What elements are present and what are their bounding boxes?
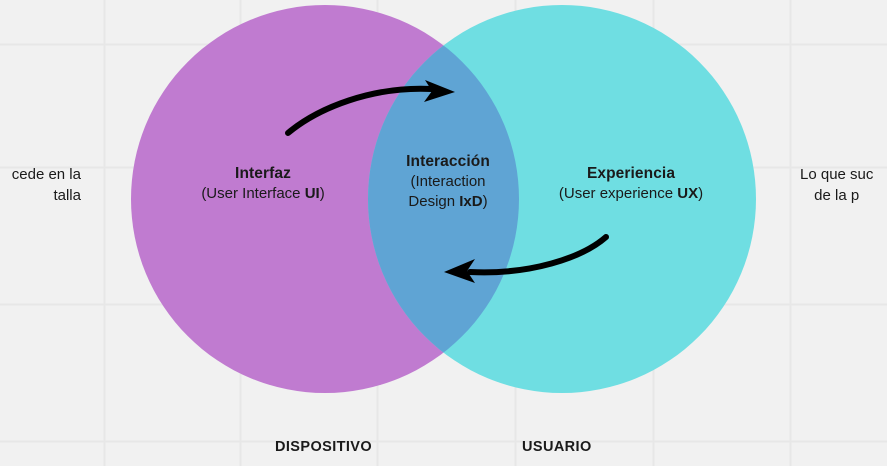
label-interfaz: Interfaz (User Interface UI) bbox=[163, 164, 363, 204]
venn-diagram-canvas: cede en la talla Interfaz (User Interfac… bbox=[0, 0, 887, 466]
label-interaccion-sub-prefix: Design bbox=[408, 193, 459, 210]
label-interaccion-sub-suffix: ) bbox=[483, 193, 488, 210]
label-interaccion-sub-line2: Design IxD) bbox=[377, 192, 519, 212]
venn-circles bbox=[0, 0, 887, 466]
label-experiencia-sub-acronym: UX bbox=[677, 185, 698, 202]
side-note-left-line1: cede en la bbox=[12, 164, 81, 185]
side-note-left: cede en la talla bbox=[12, 164, 81, 207]
axis-label-usuario: USUARIO bbox=[522, 439, 592, 455]
label-interaccion-title: Interacción bbox=[377, 152, 519, 172]
side-note-right: Lo que suc de la p bbox=[800, 164, 873, 207]
label-experiencia: Experiencia (User experience UX) bbox=[531, 164, 731, 204]
label-interaccion-sub-acronym: IxD bbox=[459, 193, 482, 210]
label-interaccion: Interacción (Interaction Design IxD) bbox=[377, 152, 519, 212]
label-interfaz-title: Interfaz bbox=[163, 164, 363, 184]
label-experiencia-title: Experiencia bbox=[531, 164, 731, 184]
label-interfaz-sub-suffix: ) bbox=[320, 185, 325, 202]
label-interfaz-subtitle: (User Interface UI) bbox=[163, 184, 363, 204]
axis-label-dispositivo: DISPOSITIVO bbox=[275, 439, 372, 455]
label-experiencia-sub-prefix: (User experience bbox=[559, 185, 677, 202]
label-experiencia-sub-suffix: ) bbox=[698, 185, 703, 202]
label-interaccion-sub-line1: (Interaction bbox=[377, 172, 519, 192]
side-note-right-line1: Lo que suc bbox=[800, 164, 873, 185]
label-experiencia-subtitle: (User experience UX) bbox=[531, 184, 731, 204]
label-interfaz-sub-prefix: (User Interface bbox=[201, 185, 304, 202]
side-note-left-line2: talla bbox=[12, 185, 81, 206]
side-note-right-line2: de la p bbox=[800, 185, 873, 206]
label-interfaz-sub-acronym: UI bbox=[305, 185, 320, 202]
